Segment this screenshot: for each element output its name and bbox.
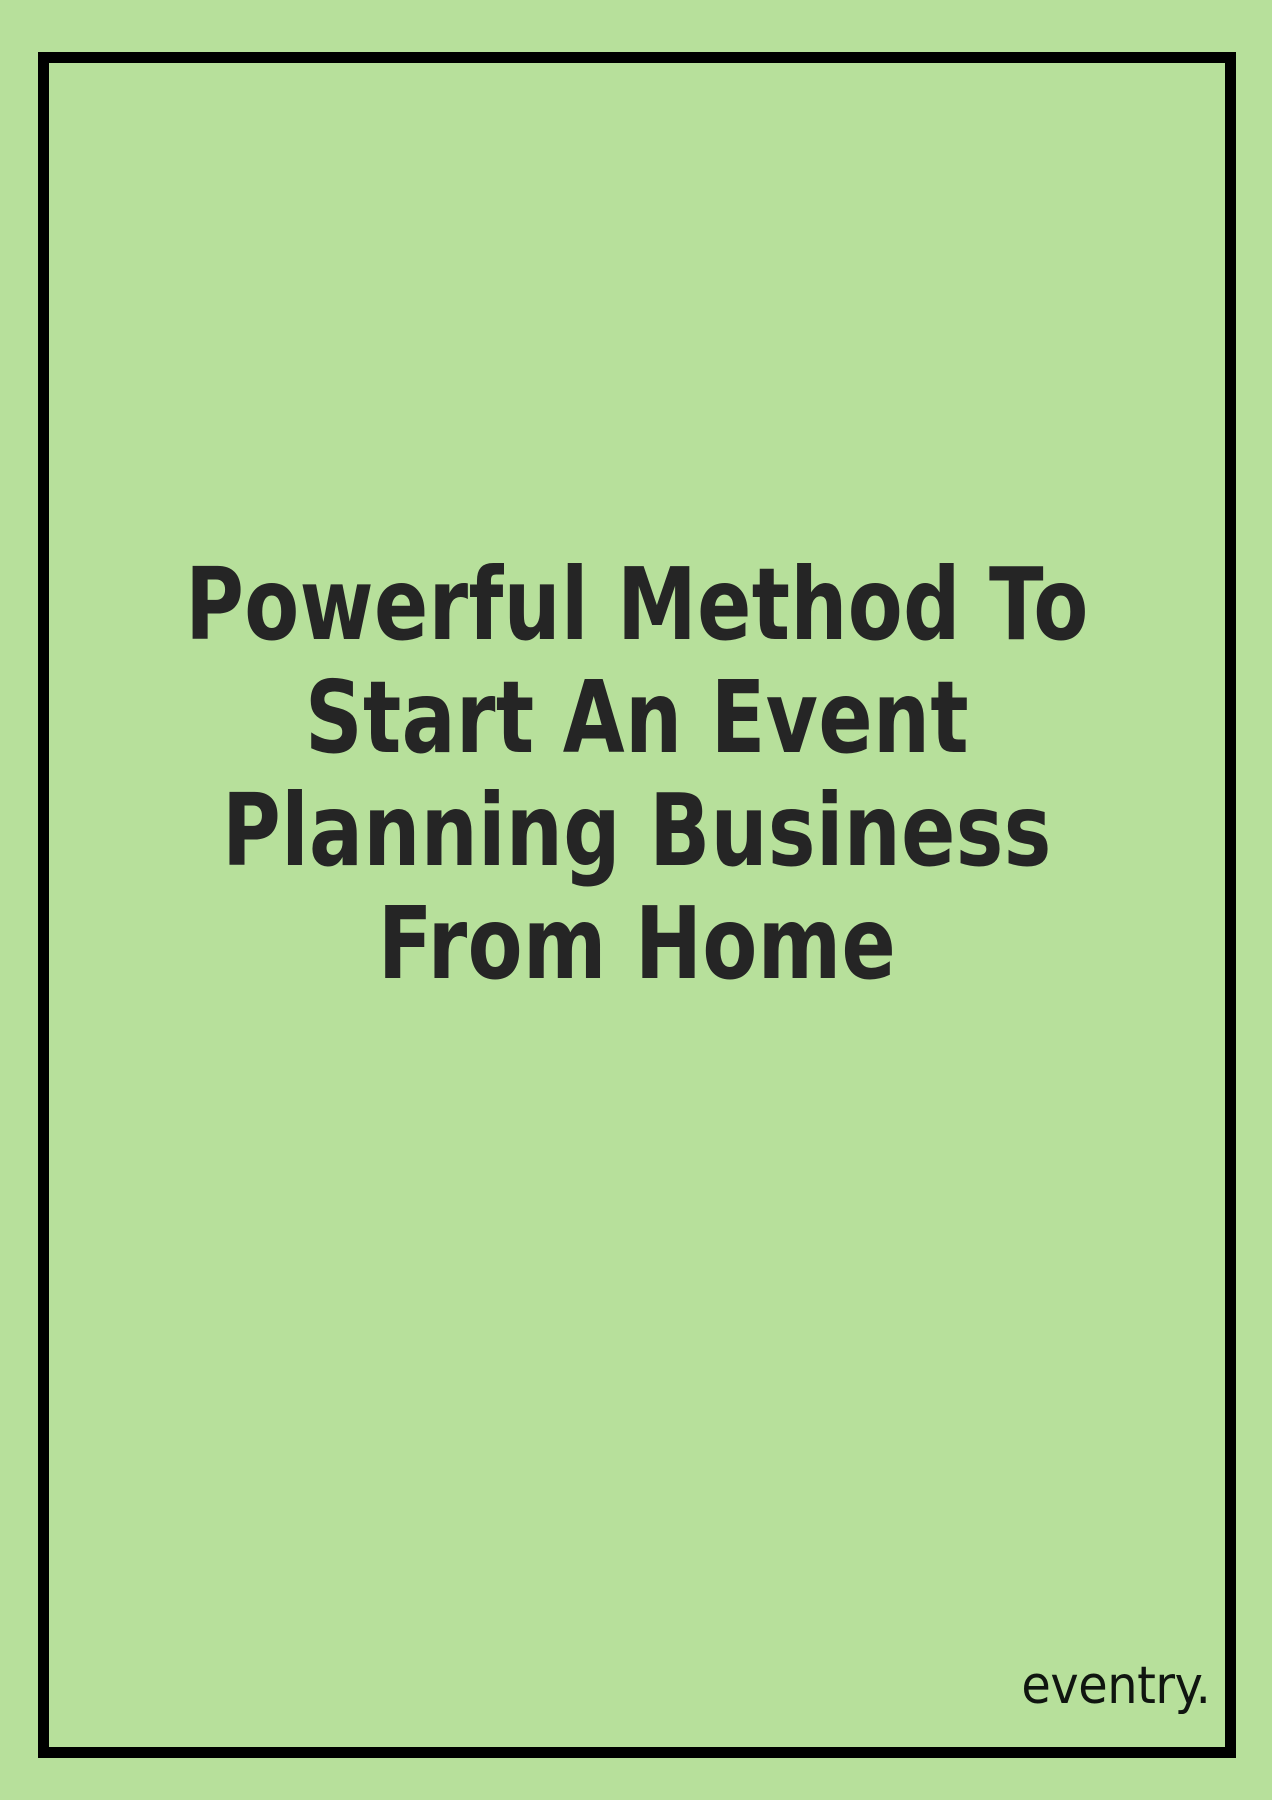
title-line-1: Powerful Method To: [158, 548, 1116, 661]
title-line-2: Start An Event: [158, 661, 1116, 774]
poster-canvas: Powerful Method To Start An Event Planni…: [0, 0, 1272, 1800]
poster-title: Powerful Method To Start An Event Planni…: [38, 548, 1236, 1000]
title-line-4: From Home: [158, 887, 1116, 1000]
brand-logo: eventry.: [1021, 1660, 1210, 1712]
title-line-3: Planning Business: [158, 774, 1116, 887]
